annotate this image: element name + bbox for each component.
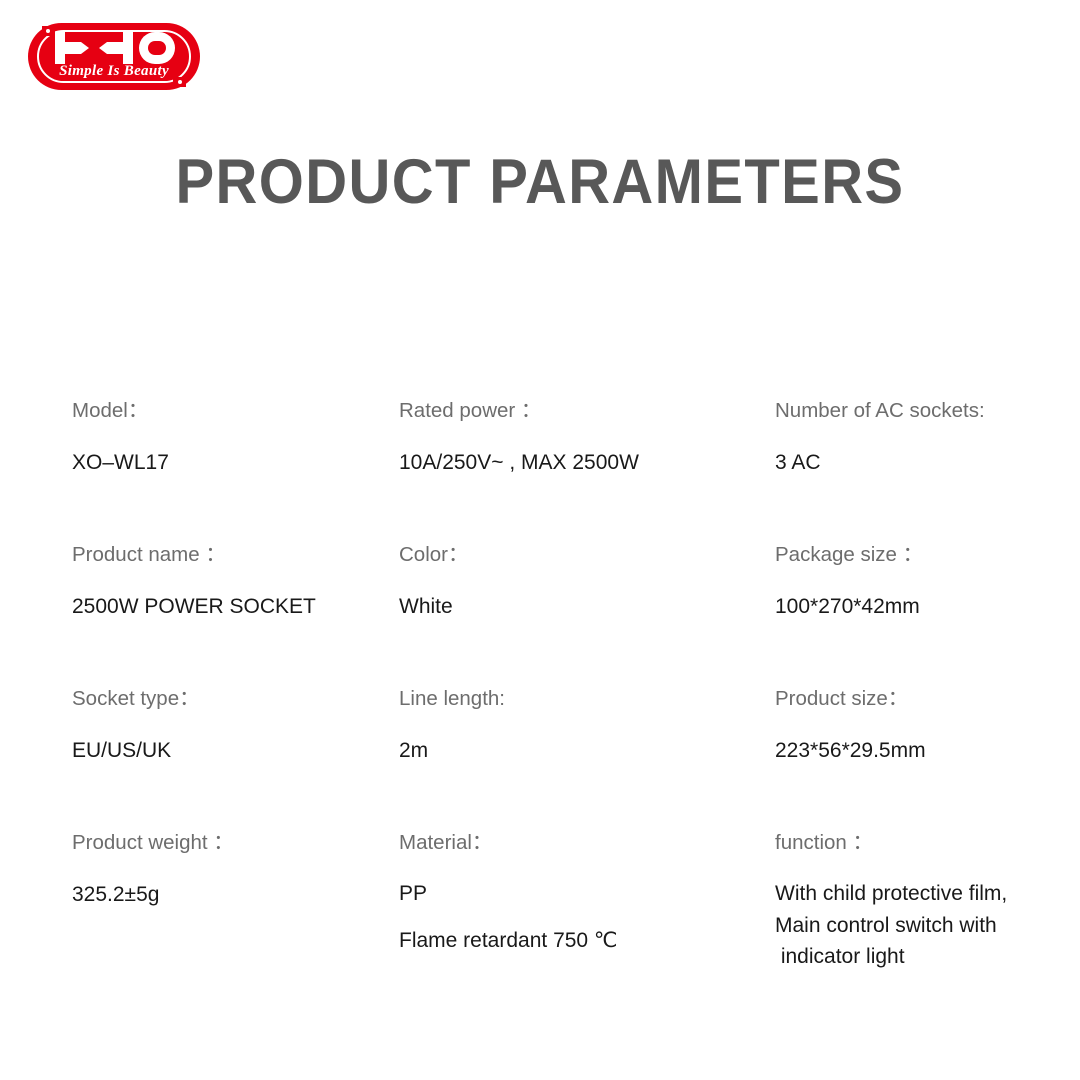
- spec-label: Number of AC sockets:: [775, 398, 1075, 424]
- spec-cell: Number of AC sockets:3 AC: [775, 398, 1075, 479]
- spec-value: PPFlame retardant 750 ℃: [399, 878, 769, 956]
- spec-row: Model：XO–WL17Rated power ：10A/250V~ , MA…: [72, 398, 1032, 542]
- spec-value: 3 AC: [775, 446, 1075, 479]
- spec-cell: Model：XO–WL17: [72, 398, 392, 479]
- spec-value-line: PP: [399, 878, 769, 910]
- spec-cell: Product name ：2500W POWER SOCKET: [72, 542, 392, 623]
- spec-value-line: With child protective film,: [775, 878, 1075, 910]
- logo-tagline: Simple Is Beauty: [28, 63, 200, 80]
- spec-value-line: White: [399, 590, 769, 623]
- page-title: PRODUCT PARAMETERS: [43, 146, 1037, 218]
- spec-value-line: 100*270*42mm: [775, 590, 1075, 623]
- spec-value: XO–WL17: [72, 446, 392, 479]
- spec-cell: Material：PPFlame retardant 750 ℃: [399, 830, 769, 956]
- spec-label: Color：: [399, 542, 769, 568]
- product-parameters-grid: Model：XO–WL17Rated power ：10A/250V~ , MA…: [72, 398, 1032, 830]
- spec-cell: Line length:2m: [399, 686, 769, 767]
- spec-row: Product name ：2500W POWER SOCKETColor：Wh…: [72, 542, 1032, 686]
- spec-value-line: Flame retardant 750 ℃: [399, 925, 769, 957]
- spec-value: EU/US/UK: [72, 734, 392, 767]
- spec-value-line: 2500W POWER SOCKET: [72, 590, 392, 623]
- spec-value-line: 3 AC: [775, 446, 1075, 479]
- spec-label: Package size ：: [775, 542, 1075, 568]
- spec-value: 2m: [399, 734, 769, 767]
- spec-value: 100*270*42mm: [775, 590, 1075, 623]
- spec-cell: Socket type：EU/US/UK: [72, 686, 392, 767]
- spec-value: 325.2±5g: [72, 878, 392, 911]
- spec-label: Product size：: [775, 686, 1075, 712]
- spec-value: 10A/250V~ , MAX 2500W: [399, 446, 769, 479]
- spec-cell: function ：With child protective film,Mai…: [775, 830, 1075, 973]
- spec-label: Material：: [399, 830, 769, 856]
- spec-value: White: [399, 590, 769, 623]
- spec-cell: Color：White: [399, 542, 769, 623]
- spec-cell: Package size ：100*270*42mm: [775, 542, 1075, 623]
- spec-value-line: Main control switch with: [775, 910, 1075, 942]
- brand-logo: Simple Is Beauty: [28, 23, 200, 90]
- spec-value: 223*56*29.5mm: [775, 734, 1075, 767]
- spec-row: Socket type：EU/US/UKLine length:2mProduc…: [72, 686, 1032, 830]
- spec-label: Product name ：: [72, 542, 392, 568]
- spec-label: Model：: [72, 398, 392, 424]
- spec-value: With child protective film,Main control …: [775, 878, 1075, 973]
- spec-value-line: 325.2±5g: [72, 878, 392, 911]
- spec-cell: Rated power ：10A/250V~ , MAX 2500W: [399, 398, 769, 479]
- spec-value-line: indicator light: [775, 941, 1075, 973]
- spec-label: Product weight ：: [72, 830, 392, 856]
- spec-label: Socket type：: [72, 686, 392, 712]
- spec-cell: Product weight ：325.2±5g: [72, 830, 392, 911]
- spec-label: Rated power ：: [399, 398, 769, 424]
- spec-cell: Product size：223*56*29.5mm: [775, 686, 1075, 767]
- spec-value-line: XO–WL17: [72, 446, 392, 479]
- spec-label: Line length:: [399, 686, 769, 712]
- spec-value: 2500W POWER SOCKET: [72, 590, 392, 623]
- spec-value-line: EU/US/UK: [72, 734, 392, 767]
- spec-value-line: 10A/250V~ , MAX 2500W: [399, 446, 769, 479]
- spec-value-line: 2m: [399, 734, 769, 767]
- spec-value-line: 223*56*29.5mm: [775, 734, 1075, 767]
- spec-label: function ：: [775, 830, 1075, 856]
- logo-dot-bottomright: [178, 80, 182, 84]
- logo-xo-mark: [55, 32, 175, 64]
- logo-dot-topleft: [46, 29, 50, 33]
